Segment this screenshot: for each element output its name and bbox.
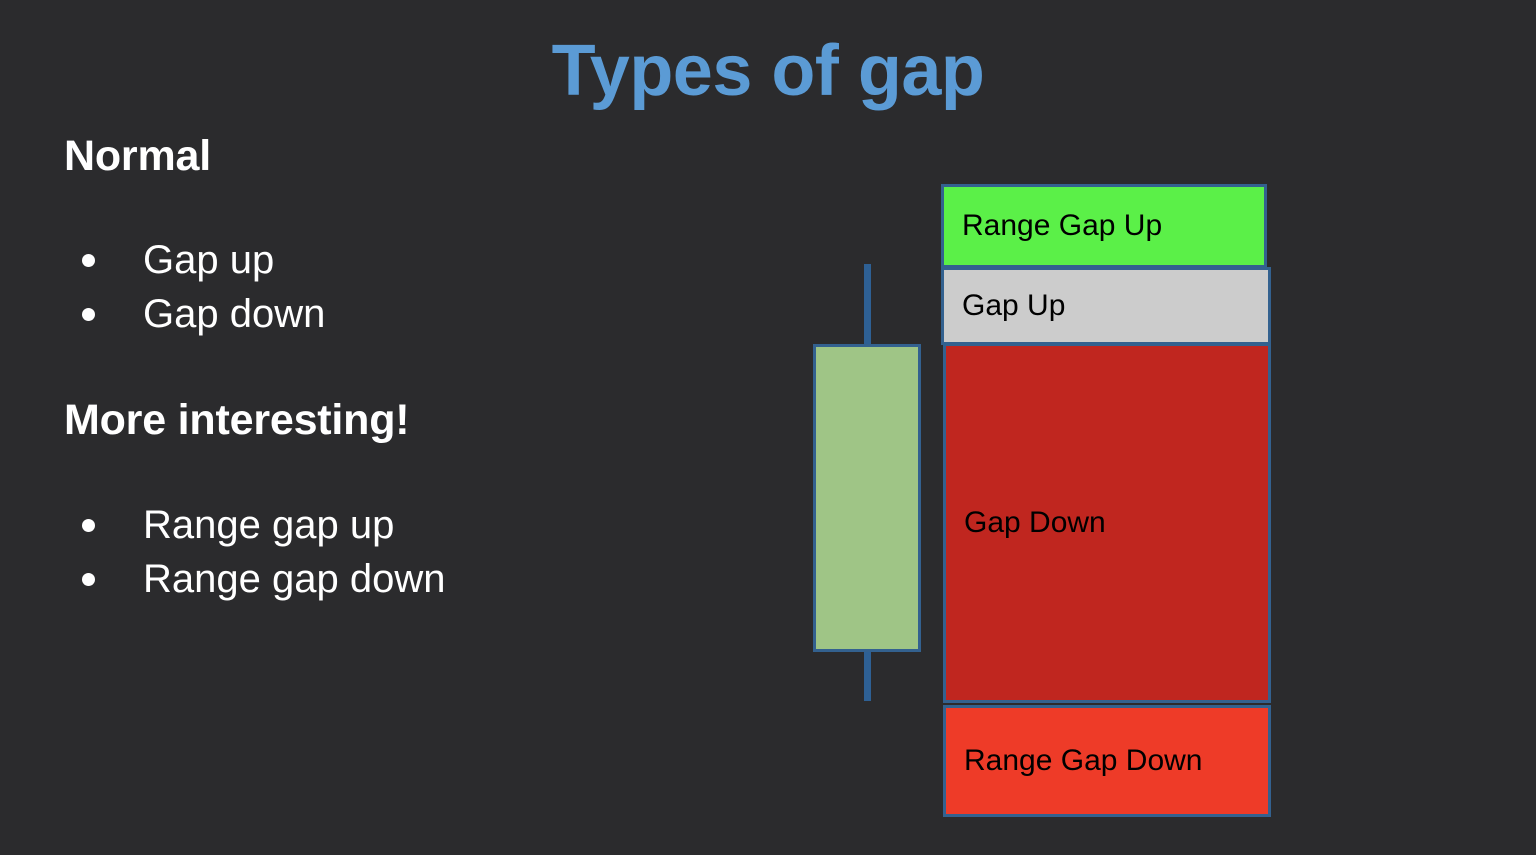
zone-range-gap-down: Range Gap Down — [943, 705, 1271, 817]
zone-label: Range Gap Down — [946, 744, 1202, 778]
zone-gap-down: Gap Down — [943, 343, 1271, 703]
zone-label: Range Gap Up — [944, 209, 1162, 243]
zone-label: Gap Down — [946, 506, 1106, 540]
candlestick-gap-diagram: Range Gap Up Gap Up Gap Down Range Gap D… — [0, 0, 1536, 855]
candle-lower-wick — [864, 652, 871, 701]
candle-upper-wick — [864, 264, 871, 346]
candle-body — [813, 344, 921, 652]
zone-gap-up: Gap Up — [941, 267, 1271, 345]
zone-range-gap-up: Range Gap Up — [941, 184, 1267, 268]
slide-canvas: Types of gap Normal Gap up Gap down More… — [0, 0, 1536, 855]
zone-label: Gap Up — [944, 289, 1065, 323]
